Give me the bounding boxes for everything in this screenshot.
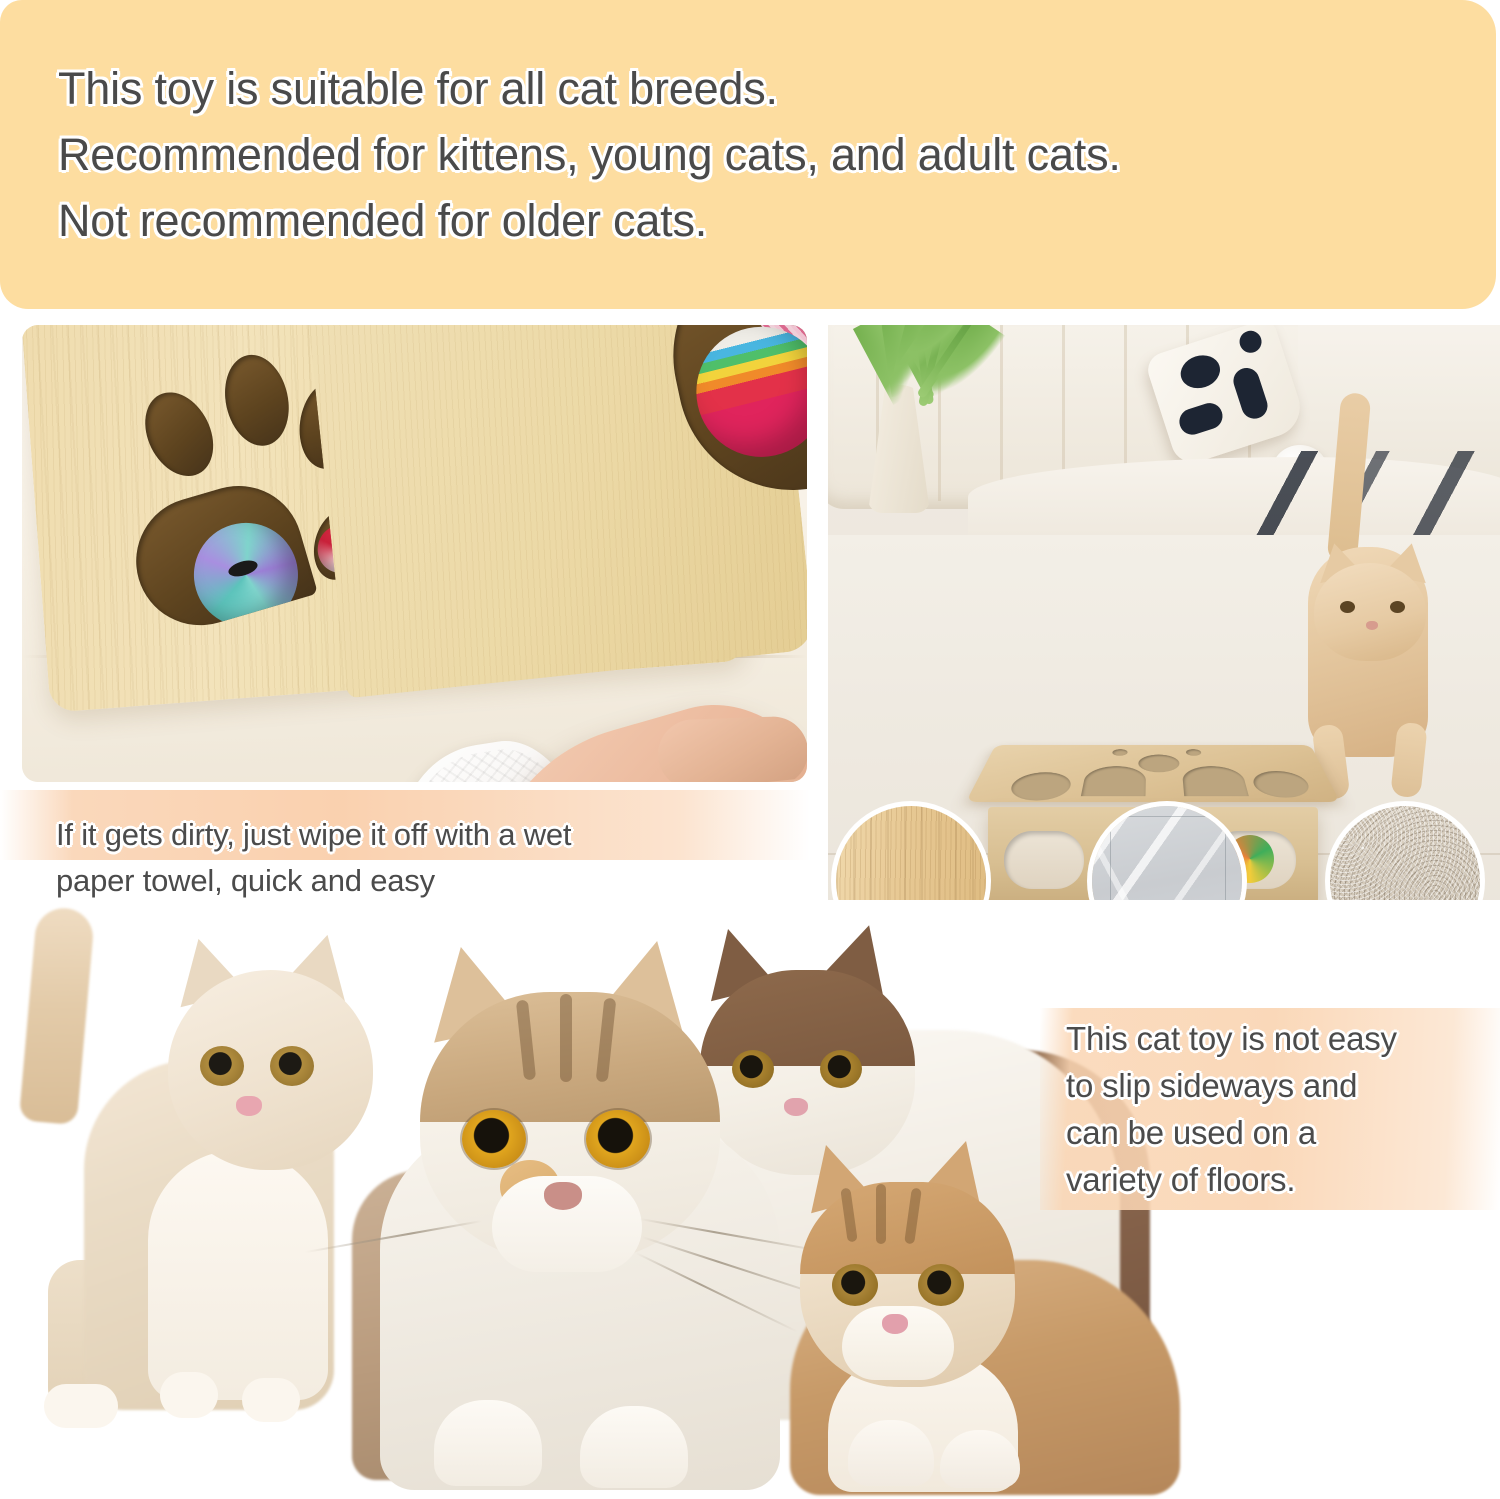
cleaning-photo <box>22 325 807 782</box>
pillow-spot <box>1230 365 1271 422</box>
toy-top-cutout <box>1081 766 1146 796</box>
header-banner: This toy is suitable for all cat breeds.… <box>0 0 1496 309</box>
cleaning-caption: If it gets dirty, just wipe it off with … <box>56 812 776 904</box>
pillow-spot <box>1176 350 1224 393</box>
kitten-d-eye <box>918 1264 964 1306</box>
cat-b-nose <box>544 1182 582 1210</box>
floors-caption-line-4: variety of floors. <box>1066 1157 1486 1204</box>
paw-pad-hole <box>121 471 318 641</box>
kitten-d-paw <box>848 1420 934 1486</box>
toy-top-cutout <box>1006 772 1074 800</box>
toy-box-top-panel <box>966 745 1340 802</box>
fern-frond <box>916 325 984 399</box>
teal-purple-ball <box>181 510 310 639</box>
kitten-a-paw <box>242 1378 300 1422</box>
cleaning-caption-line-2: paper towel, quick and easy <box>56 858 776 904</box>
cat-b-forehead-stripe <box>560 994 572 1082</box>
large-curved-cutout <box>652 325 807 511</box>
finger <box>657 715 807 782</box>
product-feature-page: This toy is suitable for all cat breeds.… <box>0 0 1500 1499</box>
cat-c-nose <box>784 1098 808 1116</box>
kitten-a-eye <box>270 1046 314 1086</box>
hanging-fern-plant <box>836 325 1066 457</box>
banner-line-1: This toy is suitable for all cat breeds. <box>58 56 1458 122</box>
kitten-a-eye <box>200 1046 244 1086</box>
paw-toe-hole <box>132 381 227 487</box>
cat-eye <box>1340 601 1355 613</box>
cleaning-caption-line-1: If it gets dirty, just wipe it off with … <box>56 812 776 858</box>
toy-top-cutout <box>1112 749 1128 756</box>
cat-b-paw <box>580 1406 688 1488</box>
pillow-spot <box>1237 328 1265 356</box>
floors-caption-line-1: This cat toy is not easy <box>1066 1016 1486 1063</box>
kitten-d-eye <box>832 1264 878 1306</box>
kitten-a-chest <box>148 1150 328 1400</box>
floors-caption-line-2: to slip sideways and <box>1066 1063 1486 1110</box>
cat-nose <box>1366 621 1378 630</box>
kitten-a-tail <box>19 906 96 1125</box>
banner-line-2: Recommended for kittens, young cats, and… <box>58 122 1458 188</box>
kitten-a-nose <box>236 1096 262 1116</box>
cat-c-eye <box>820 1050 862 1088</box>
paw-toe-hole <box>217 349 297 452</box>
kitten-d-nose <box>882 1314 908 1334</box>
kitten-d-forehead-stripe <box>876 1184 886 1244</box>
pillow-spot <box>1176 400 1226 438</box>
room-cat-head <box>1314 563 1426 661</box>
banner-line-3: Not recommended for older cats. <box>58 188 1458 254</box>
toy-top-cutout <box>1186 749 1202 756</box>
cat-eye <box>1390 601 1405 613</box>
cat-b-eye <box>586 1110 650 1168</box>
toy-top-cutout <box>1250 771 1314 798</box>
cat-b-eye <box>462 1110 526 1168</box>
toy-window <box>1004 831 1084 889</box>
toy-top-cutout <box>1138 755 1180 773</box>
cat-b-paw <box>434 1400 542 1486</box>
toy-top-cutout <box>1182 766 1249 796</box>
floors-caption: This cat toy is not easy to slip sideway… <box>1066 1016 1486 1203</box>
kitten-a-paw <box>44 1384 118 1428</box>
kitten-a-paw <box>160 1372 218 1418</box>
banner-text-block: This toy is suitable for all cat breeds.… <box>58 56 1458 254</box>
rainbow-ball <box>684 325 807 469</box>
wooden-board-upper-section <box>299 325 807 698</box>
floors-caption-line-3: can be used on a <box>1066 1110 1486 1157</box>
cat-c-eye <box>732 1050 774 1088</box>
